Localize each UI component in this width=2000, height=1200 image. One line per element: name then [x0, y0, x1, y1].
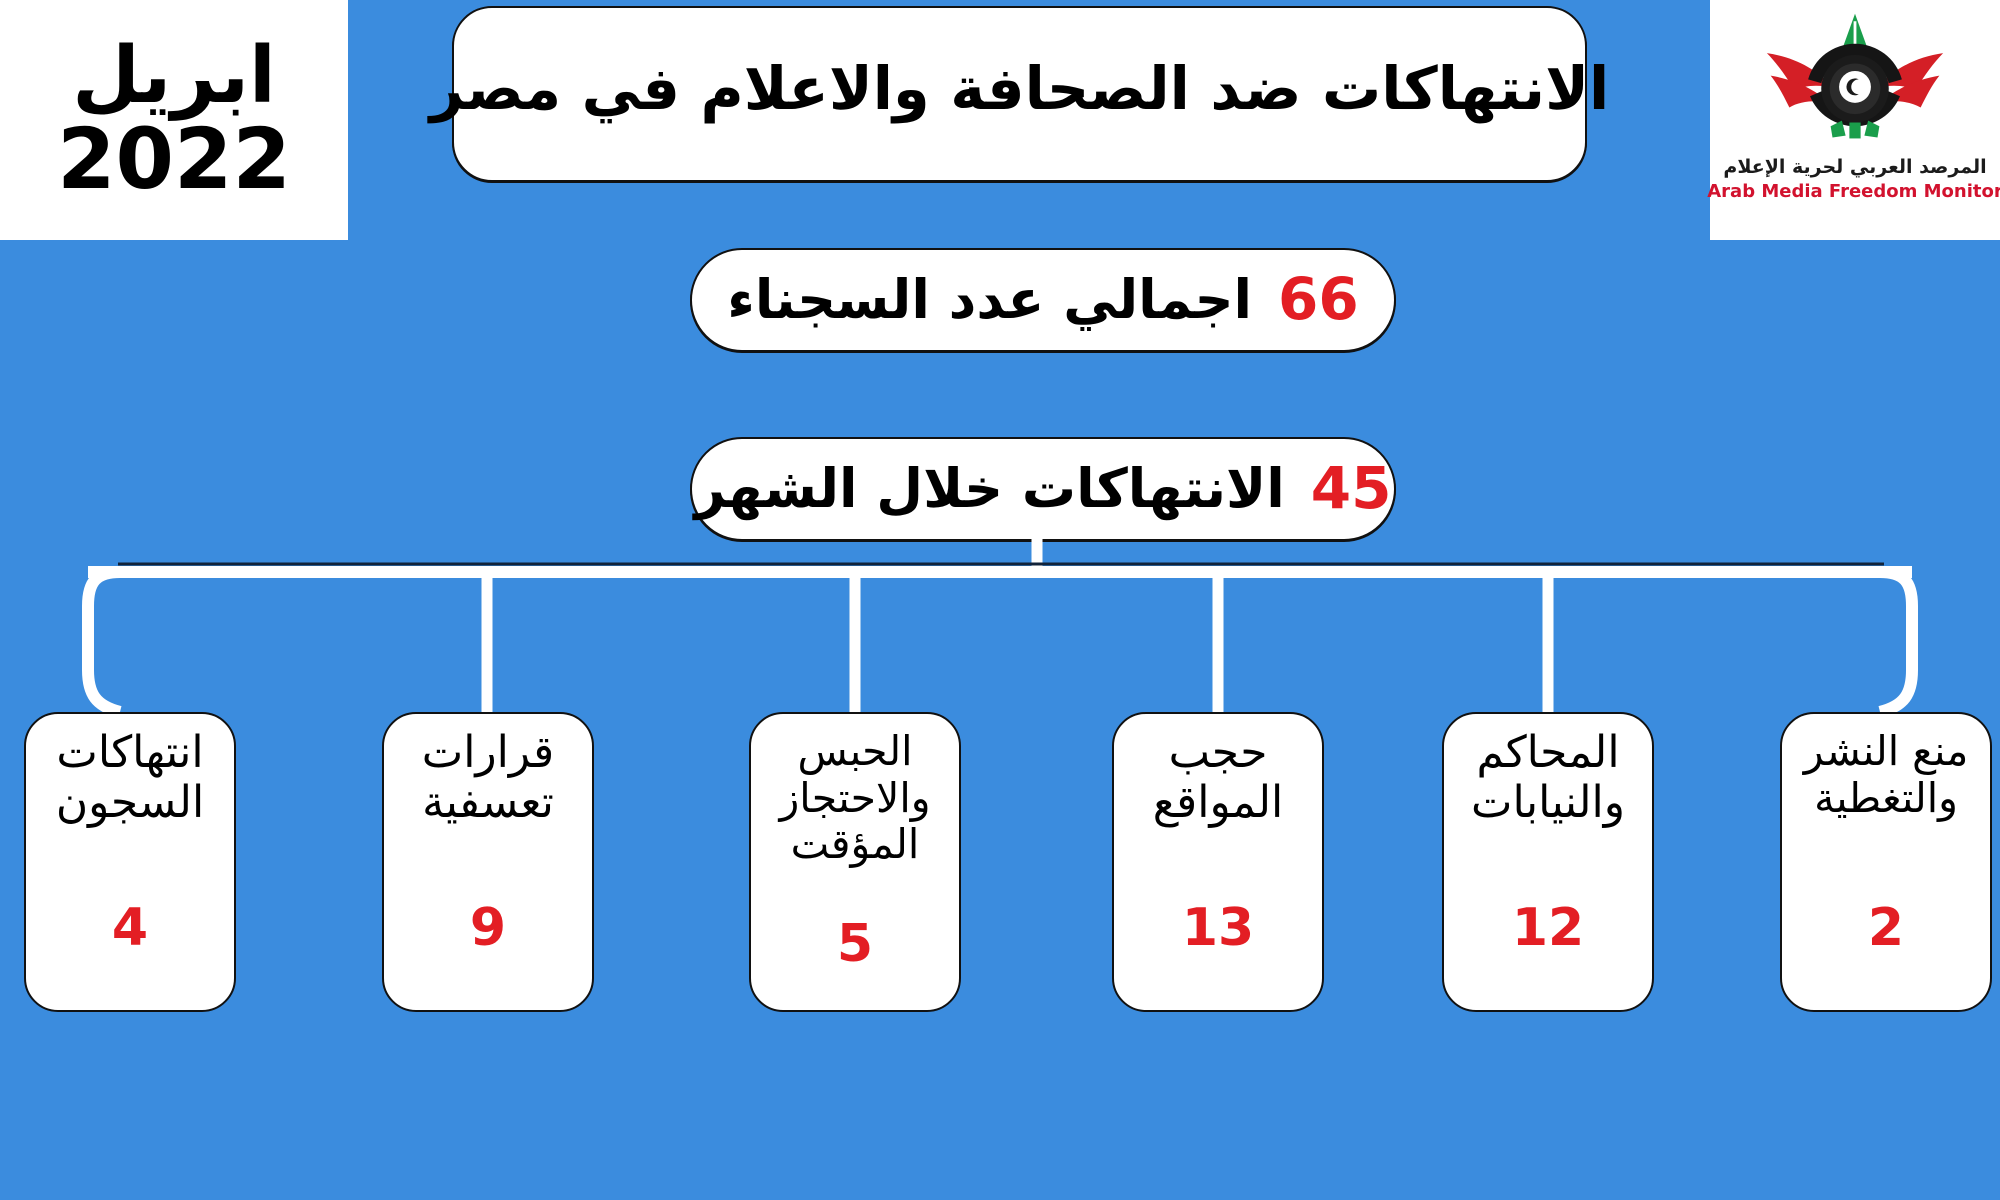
category-label: حجبالمواقع — [1153, 728, 1283, 828]
category-label: المحاكموالنيابات — [1471, 728, 1625, 828]
infographic-canvas: ابريل 2022 الانتهاكات ضد الصحافة والاعلا… — [0, 0, 2000, 1200]
category-label: انتهاكاتالسجون — [56, 728, 204, 828]
date-month: ابريل — [72, 37, 275, 117]
category-arbitrary-decisions[interactable]: قراراتتعسفية 9 — [382, 712, 594, 1012]
tree-connector — [0, 530, 2000, 730]
category-value: 4 — [112, 902, 148, 1000]
arab-media-freedom-monitor-logo-icon — [1760, 10, 1950, 160]
category-value: 5 — [837, 918, 873, 1000]
category-publication-ban[interactable]: منع النشروالتغطية 2 — [1780, 712, 1992, 1012]
date-year: 2022 — [57, 117, 291, 203]
stat-monthly-violations-value: 45 — [1311, 457, 1392, 521]
page-title-text: الانتهاكات ضد الصحافة والاعلام في مصر — [430, 55, 1610, 133]
stat-monthly-violations: 45 الانتهاكات خلال الشهر — [690, 437, 1396, 541]
stat-monthly-violations-label: الانتهاكات خلال الشهر — [695, 459, 1285, 518]
date-plate: ابريل 2022 — [0, 0, 348, 240]
category-website-blocking[interactable]: حجبالمواقع 13 — [1112, 712, 1324, 1012]
category-detention[interactable]: الحبسوالاحتجازالمؤقت 5 — [749, 712, 961, 1012]
category-courts-prosecutions[interactable]: المحاكموالنيابات 12 — [1442, 712, 1654, 1012]
category-value: 13 — [1182, 902, 1254, 1000]
category-value: 9 — [470, 902, 506, 1000]
logo-english-name: Arab Media Freedom Monitor — [1707, 181, 2000, 202]
category-label: منع النشروالتغطية — [1804, 728, 1969, 821]
logo-plate: المرصد العربي لحرية الإعلام Arab Media F… — [1710, 0, 2000, 240]
category-value: 2 — [1868, 902, 1904, 1000]
category-label: الحبسوالاحتجازالمؤقت — [779, 728, 930, 868]
category-prison-violations[interactable]: انتهاكاتالسجون 4 — [24, 712, 236, 1012]
category-value: 12 — [1512, 902, 1584, 1000]
category-label: قراراتتعسفية — [422, 728, 554, 828]
stat-total-prisoners-value: 66 — [1278, 268, 1359, 332]
page-title: الانتهاكات ضد الصحافة والاعلام في مصر — [452, 6, 1587, 182]
logo-arabic-name: المرصد العربي لحرية الإعلام — [1723, 156, 1986, 178]
stat-total-prisoners: 66 اجمالي عدد السجناء — [690, 248, 1396, 352]
category-row: انتهاكاتالسجون 4 قراراتتعسفية 9 الحبسوال… — [0, 712, 2000, 1032]
stat-total-prisoners-label: اجمالي عدد السجناء — [727, 270, 1252, 329]
